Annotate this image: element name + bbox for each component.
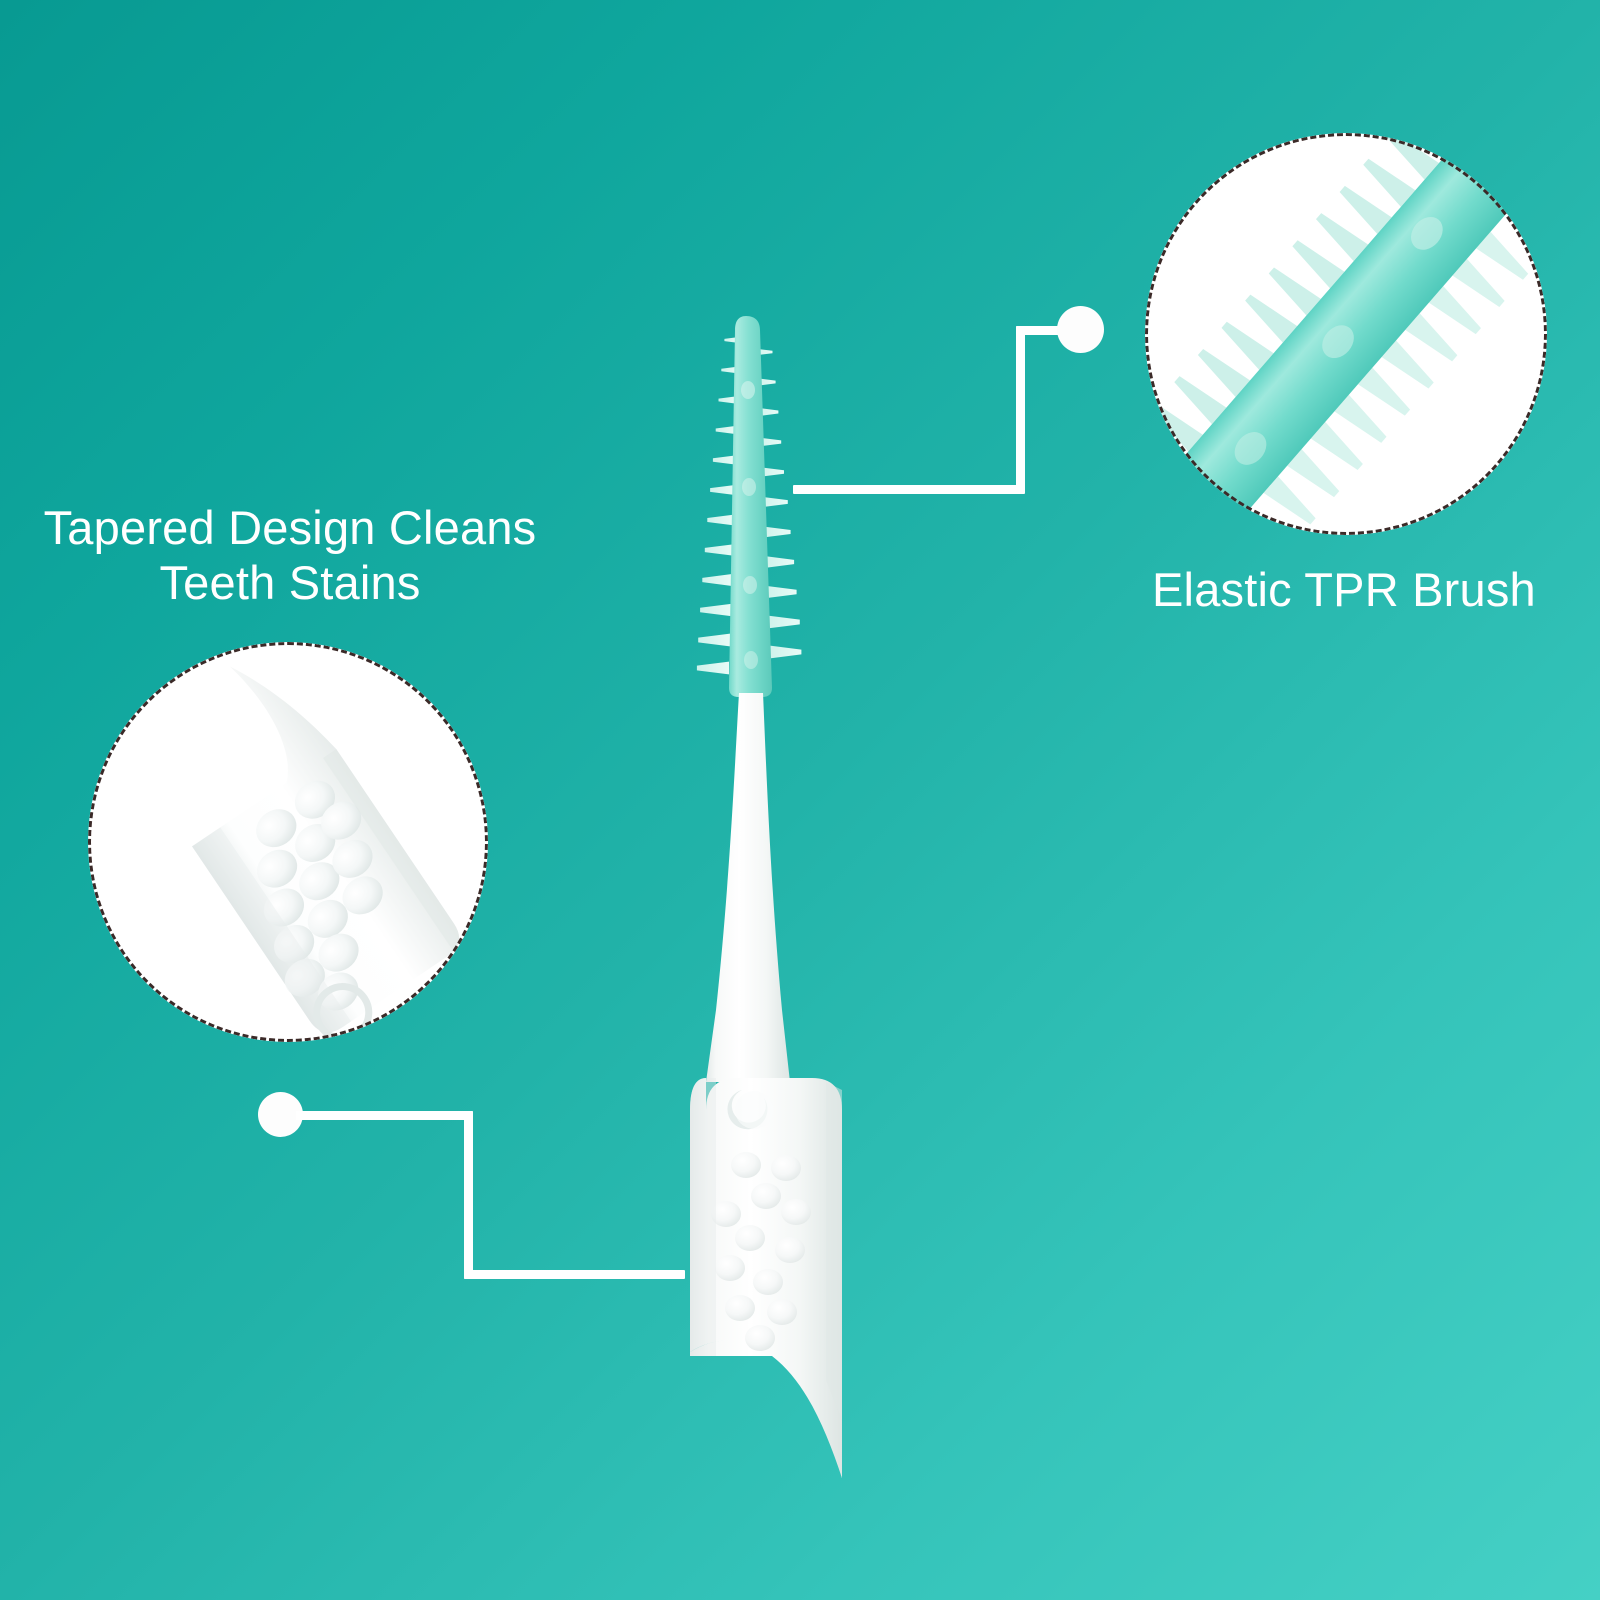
callout-label-elastic-tpr-brush: Elastic TPR Brush — [1152, 562, 1536, 617]
callout-label-tapered-design: Tapered Design Cleans Teeth Stains — [30, 500, 550, 611]
leader-dot-tpr — [1057, 306, 1104, 353]
leader-line-tapered-vertical — [464, 1111, 473, 1279]
leader-line-tpr-horizontal — [793, 485, 1025, 494]
tpr-closeup-graphic — [1145, 133, 1547, 535]
callout-label-tapered-line2: Teeth Stains — [30, 555, 550, 610]
product-infographic: Tapered Design Cleans Teeth Stains Elast… — [0, 0, 1600, 1600]
magnifier-tapered-design — [88, 642, 488, 1042]
callout-label-tapered-line1: Tapered Design Cleans — [44, 501, 537, 554]
product-handle — [690, 1078, 842, 1478]
magnifier-elastic-tpr-brush — [1145, 133, 1547, 535]
leader-line-tapered-top — [296, 1111, 473, 1120]
leader-line-tapered-bottom — [464, 1270, 685, 1279]
tapered-pick-closeup-graphic — [88, 642, 488, 1042]
tpr-brush-head — [729, 316, 772, 697]
leader-line-tpr-vertical — [1016, 326, 1025, 491]
product-stem — [706, 693, 790, 1082]
